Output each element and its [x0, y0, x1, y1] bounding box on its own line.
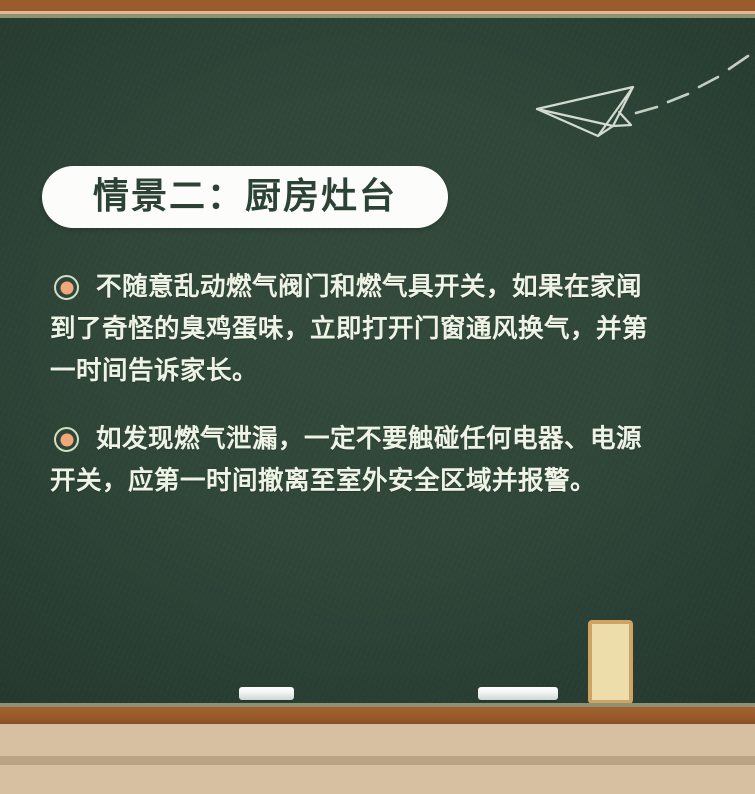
top-frame-brown-band: [0, 0, 755, 11]
advice-item-1-text: 不随意乱动燃气阀门和燃气具开关，如果在家闻到了奇怪的臭鸡蛋味，立即打开门窗通风换…: [50, 272, 648, 386]
advice-item-2-text: 如发现燃气泄漏，一定不要触碰任何电器、电源开关，应第一时间撤离至室外安全区域并报…: [50, 424, 642, 496]
advice-item-1: 不随意乱动燃气阀门和燃气具开关，如果在家闻到了奇怪的臭鸡蛋味，立即打开门窗通风换…: [50, 266, 658, 392]
paper-plane-icon: [505, 42, 755, 162]
advice-item-2: 如发现燃气泄漏，一定不要触碰任何电器、电源开关，应第一时间撤离至室外安全区域并报…: [50, 418, 658, 502]
page-title: 情景二：厨房灶台: [93, 179, 397, 215]
blackboard-eraser: [588, 620, 633, 704]
chalk-tray: [0, 707, 755, 724]
bullet-point-icon: [54, 427, 79, 452]
safety-poster: 情景二：厨房灶台 不随意乱动燃气阀门和燃气具开关，如果在家闻到了奇怪的臭鸡蛋味，…: [0, 0, 755, 794]
chalk-stick: [239, 687, 294, 700]
scenario-title-pill: 情景二：厨房灶台: [42, 166, 448, 228]
chalk-stick: [478, 687, 558, 700]
advice-list: 不随意乱动燃气阀门和燃气具开关，如果在家闻到了奇怪的臭鸡蛋味，立即打开门窗通风换…: [50, 266, 658, 502]
wall-stripe: [0, 756, 755, 765]
paper-plane-svg: [505, 42, 755, 162]
bullet-point-icon: [54, 275, 79, 300]
